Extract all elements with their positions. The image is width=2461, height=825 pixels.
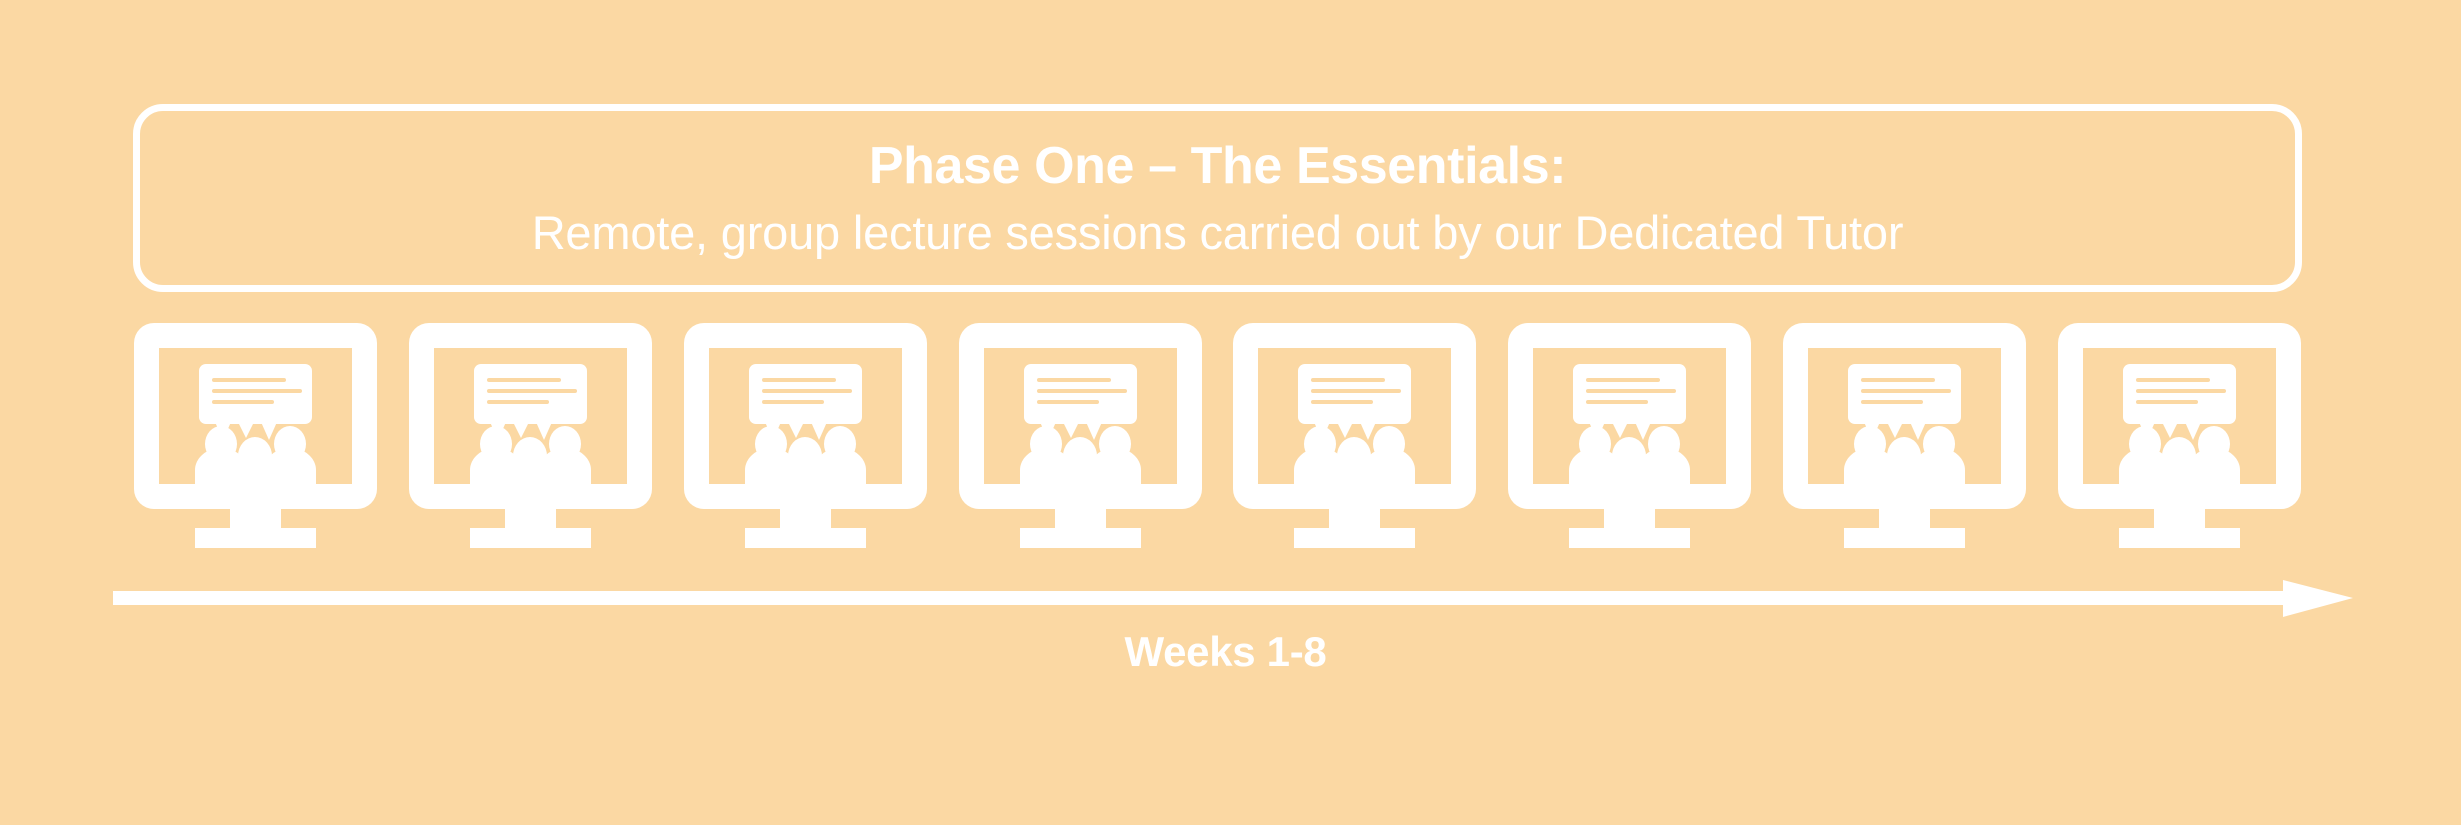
milestone-monitor-8	[2057, 322, 2302, 548]
online-group-lecture-monitor-icon	[408, 322, 653, 548]
online-group-lecture-monitor-icon	[1232, 322, 1477, 548]
milestone-monitor-6	[1507, 322, 1752, 548]
phase-title: Phase One – The Essentials:	[869, 137, 1566, 195]
milestone-monitor-1	[133, 322, 378, 548]
timeline-arrow	[113, 580, 2353, 622]
online-group-lecture-monitor-icon	[683, 322, 928, 548]
online-group-lecture-monitor-icon	[133, 322, 378, 548]
online-group-lecture-monitor-icon	[2057, 322, 2302, 548]
milestone-monitor-4	[958, 322, 1203, 548]
milestone-monitor-3	[683, 322, 928, 548]
milestone-monitor-2	[408, 322, 653, 548]
online-group-lecture-monitor-icon	[958, 322, 1203, 548]
infographic-canvas: Phase One – The Essentials: Remote, grou…	[0, 0, 2461, 825]
phase-subtitle: Remote, group lecture sessions carried o…	[532, 207, 1904, 260]
phase-banner: Phase One – The Essentials: Remote, grou…	[133, 104, 2302, 292]
online-group-lecture-monitor-icon	[1507, 322, 1752, 548]
timeline-label-text: Weeks 1-8	[1125, 628, 1327, 676]
right-arrow-icon	[113, 580, 2353, 617]
online-group-lecture-monitor-icon	[1782, 322, 2027, 548]
milestone-monitor-5	[1232, 322, 1477, 548]
milestone-row	[133, 322, 2302, 552]
timeline-label: Weeks 1-8	[0, 628, 2461, 676]
milestone-monitor-7	[1782, 322, 2027, 548]
